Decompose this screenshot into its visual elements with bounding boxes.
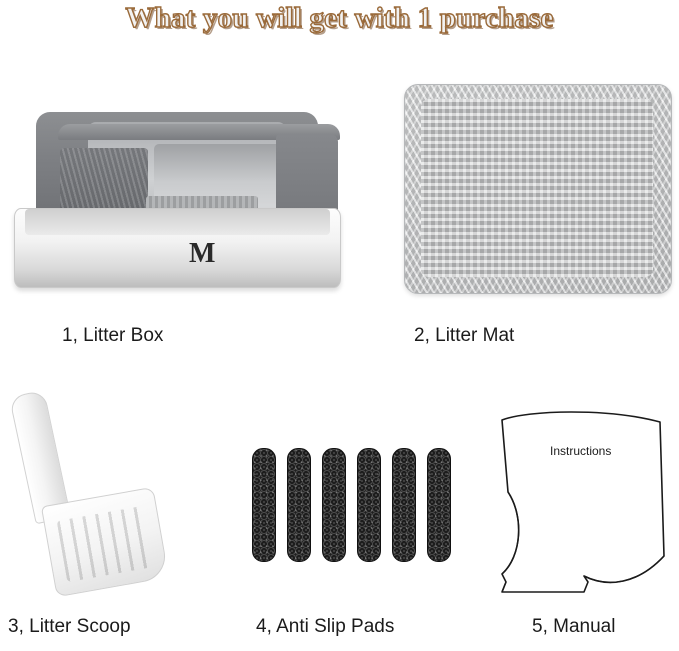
litter-box-size-marking: M xyxy=(189,238,215,270)
page-title: What you will get with 1 purchase xyxy=(0,2,679,35)
anti-slip-pads-image xyxy=(252,448,452,580)
litter-box-base-lip xyxy=(25,209,330,235)
caption-litter-scoop: 3, Litter Scoop xyxy=(8,616,131,638)
caption-litter-mat: 2, Litter Mat xyxy=(414,325,514,347)
anti-slip-pad xyxy=(427,448,451,562)
anti-slip-pad xyxy=(392,448,416,562)
anti-slip-pad xyxy=(287,448,311,562)
anti-slip-pad xyxy=(322,448,346,562)
anti-slip-pad xyxy=(252,448,276,562)
caption-manual: 5, Manual xyxy=(532,616,615,638)
litter-mat-image xyxy=(404,84,670,292)
litter-box-image: M xyxy=(14,100,339,295)
manual-page-outline xyxy=(488,406,673,602)
litter-scoop-head xyxy=(41,487,169,597)
litter-mat-outer xyxy=(404,84,672,294)
litter-mat-honeycomb xyxy=(421,99,653,277)
manual-instructions-label: Instructions xyxy=(550,444,611,458)
litter-scoop-image xyxy=(6,392,186,602)
caption-anti-slip-pads: 4, Anti Slip Pads xyxy=(256,616,394,638)
litter-scoop-slots xyxy=(57,506,154,582)
caption-litter-box: 1, Litter Box xyxy=(62,325,163,347)
anti-slip-pad xyxy=(357,448,381,562)
litter-box-base xyxy=(14,208,341,288)
manual-image: Instructions xyxy=(488,406,673,606)
